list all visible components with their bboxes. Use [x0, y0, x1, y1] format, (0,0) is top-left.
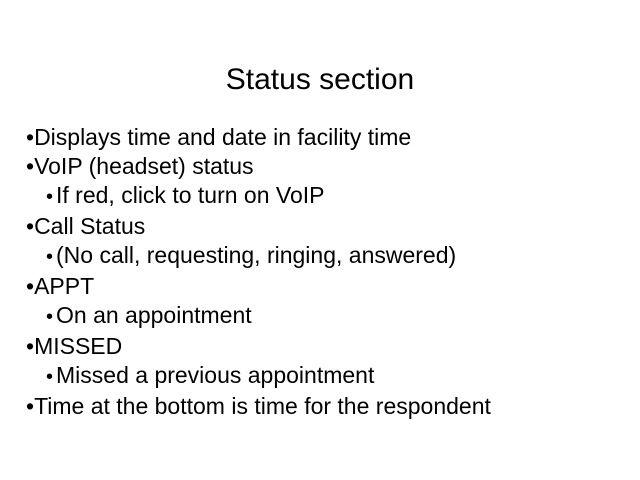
bullet-icon: •: [46, 366, 53, 388]
list-item-label: Missed a previous appointment: [56, 362, 374, 388]
list-item-label: On an appointment: [56, 302, 252, 328]
bullet-icon: •: [46, 246, 53, 268]
page-title: Status section: [0, 62, 640, 98]
list-item-label: VoIP (headset) status: [34, 153, 254, 179]
bullet-icon: •: [26, 333, 34, 359]
list-item: •Time at the bottom is time for the resp…: [26, 392, 616, 421]
list-item: •If red, click to turn on VoIP: [26, 181, 616, 212]
bullet-icon: •: [26, 273, 34, 299]
list-item-label: APPT: [34, 273, 94, 299]
list-item-label: MISSED: [34, 333, 122, 359]
bullet-icon: •: [46, 186, 53, 208]
bullet-icon: •: [26, 213, 34, 239]
list-item-label: If red, click to turn on VoIP: [56, 182, 324, 208]
list-item-label: (No call, requesting, ringing, answered): [56, 242, 456, 268]
list-item: •Missed a previous appointment: [26, 361, 616, 392]
list-item: •Displays time and date in facility time: [26, 123, 616, 152]
list-item: •VoIP (headset) status: [26, 152, 616, 181]
list-item: •On an appointment: [26, 301, 616, 332]
bullet-list: •Displays time and date in facility time…: [26, 123, 616, 421]
list-item: •APPT: [26, 272, 616, 301]
bullet-icon: •: [46, 306, 53, 328]
list-item: •(No call, requesting, ringing, answered…: [26, 241, 616, 272]
list-item: •MISSED: [26, 332, 616, 361]
list-item-label: Displays time and date in facility time: [34, 124, 411, 150]
list-item-label: Call Status: [34, 213, 145, 239]
bullet-icon: •: [26, 153, 34, 179]
list-item: •Call Status: [26, 212, 616, 241]
bullet-icon: •: [26, 393, 34, 419]
list-item-label: Time at the bottom is time for the respo…: [34, 393, 491, 419]
bullet-icon: •: [26, 124, 34, 150]
slide-canvas: Status section •Displays time and date i…: [0, 0, 640, 480]
